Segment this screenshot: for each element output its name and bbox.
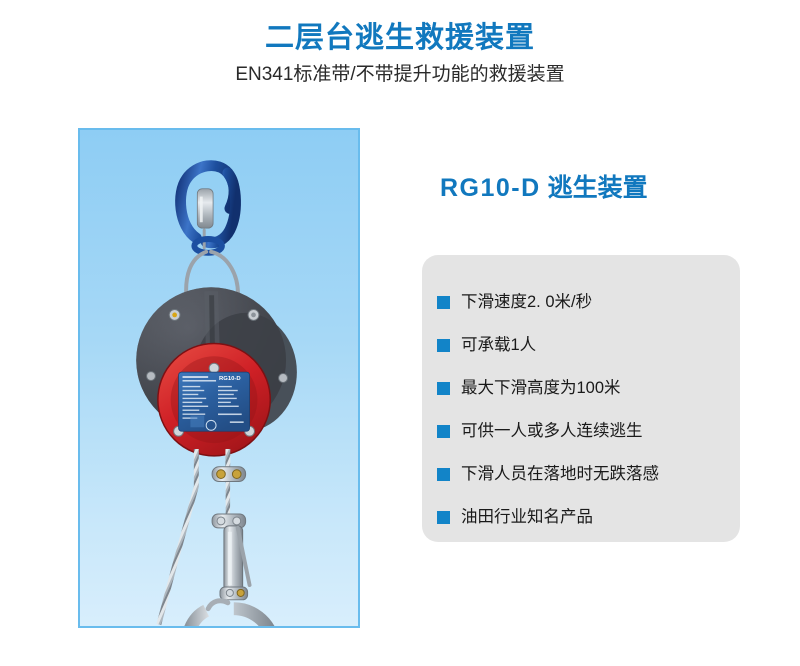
bullet-square-icon [437,382,450,395]
product-image: RG10-D [80,130,358,626]
product-photo-panel: RG10-D [78,128,360,628]
spec-item: 可承载1人 [437,324,737,367]
spec-item-label: 油田行业知名产品 [461,509,593,526]
spec-item-label: 可承载1人 [461,337,536,354]
bottom-carabiner-icon [182,601,275,626]
spec-label-plate: RG10-D [179,372,250,431]
spec-item-label: 下滑人员在落地时无跌落感 [461,466,659,483]
page-subtitle: EN341标准带/不带提升功能的救援装置 [0,64,800,87]
spec-item-label: 下滑速度2. 0米/秒 [461,294,592,311]
product-model: RG10-D [440,174,541,202]
bullet-square-icon [437,296,450,309]
bullet-square-icon [437,425,450,438]
product-name: RG10-D 逃生装置 [440,168,648,204]
spec-item: 油田行业知名产品 [437,496,737,539]
spec-item: 可供一人或多人连续逃生 [437,410,737,453]
spec-item: 下滑速度2. 0米/秒 [437,281,737,324]
spec-item-label: 可供一人或多人连续逃生 [461,423,643,440]
svg-text:RG10-D: RG10-D [219,376,241,382]
spec-item-label: 最大下滑高度为100米 [461,380,621,397]
page-title: 二层台逃生救援装置 [0,22,800,55]
spec-item: 下滑人员在落地时无跌落感 [437,453,737,496]
bullet-square-icon [437,511,450,524]
tensioner-bar [220,526,250,600]
spec-item: 最大下滑高度为100米 [437,367,737,410]
spec-list: 下滑速度2. 0米/秒 可承载1人 最大下滑高度为100米 可供一人或多人连续逃… [437,281,737,539]
bullet-square-icon [437,339,450,352]
page-header: 二层台逃生救援装置 EN341标准带/不带提升功能的救援装置 [0,0,800,87]
product-name-suffix: 逃生装置 [541,174,648,202]
bullet-square-icon [437,468,450,481]
top-carabiner-icon [181,166,236,253]
